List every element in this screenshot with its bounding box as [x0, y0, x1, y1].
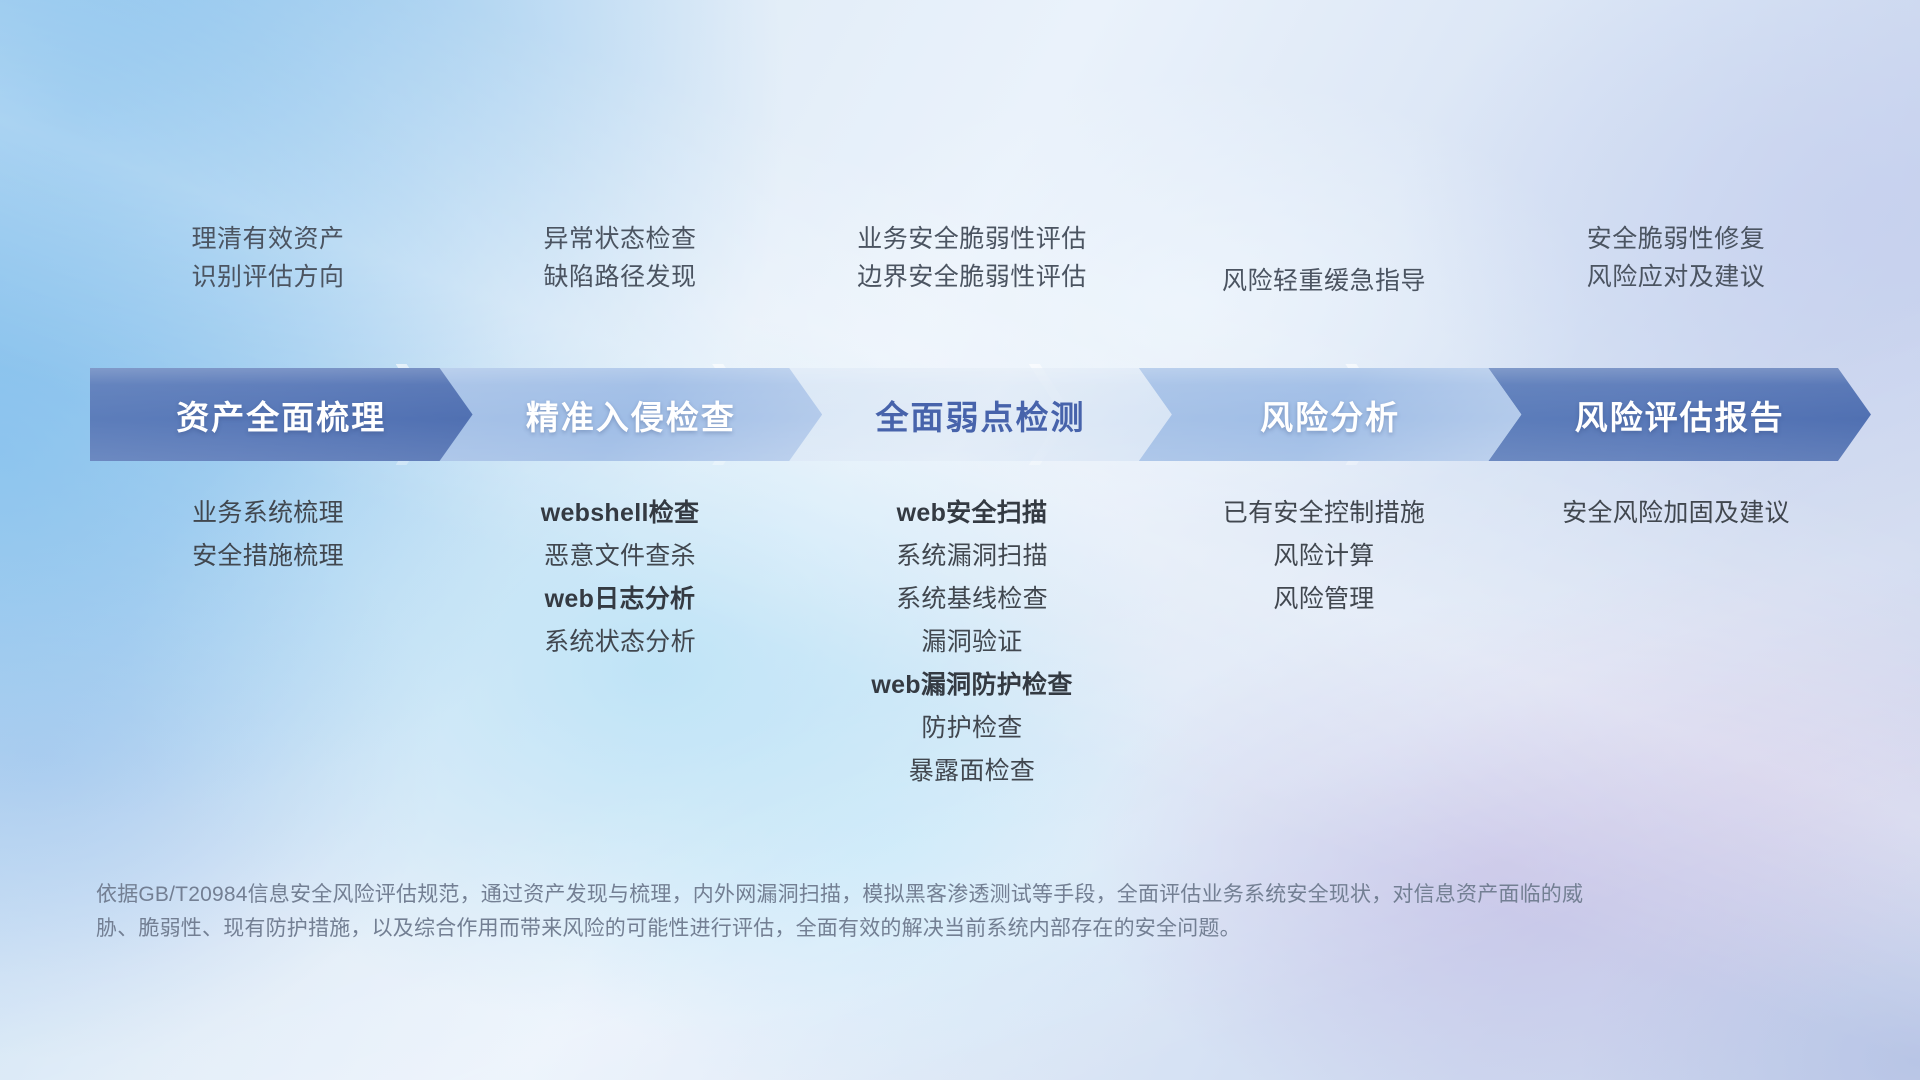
detail-item: 漏洞验证 — [921, 629, 1022, 656]
detail-group-risk-report: 安全风险加固及建议 — [1500, 500, 1852, 527]
slide-canvas: 理清有效资产识别评估方向异常状态检查缺陷路径发现业务安全脆弱性评估边界安全脆弱性… — [0, 0, 1920, 1080]
detail-group-asset-inventory: 业务系统梳理安全措施梳理 — [92, 500, 444, 570]
top-annotation-item: 风险应对及建议 — [1587, 264, 1766, 290]
top-annotation-group-asset-inventory: 理清有效资产识别评估方向 — [92, 226, 444, 316]
detail-item: 安全措施梳理 — [192, 543, 344, 570]
top-annotation-item: 风险轻重缓急指导 — [1222, 268, 1426, 294]
top-annotations-row: 理清有效资产识别评估方向异常状态检查缺陷路径发现业务安全脆弱性评估边界安全脆弱性… — [92, 226, 1852, 316]
detail-item: 系统状态分析 — [544, 629, 696, 656]
process-step-risk-report[interactable]: 风险评估报告 — [1488, 368, 1871, 461]
process-step-label: 风险评估报告 — [1575, 391, 1785, 439]
top-annotation-group-risk-analysis: 风险轻重缓急指导 — [1148, 226, 1500, 316]
detail-item: 风险计算 — [1273, 543, 1374, 570]
process-step-label: 精准入侵检查 — [526, 391, 736, 439]
detail-item: 系统基线检查 — [896, 586, 1048, 613]
top-annotation-group-weakness-detection: 业务安全脆弱性评估边界安全脆弱性评估 — [796, 226, 1148, 316]
process-step-label: 全面弱点检测 — [875, 391, 1085, 439]
process-step-weakness-detection[interactable]: 全面弱点检测 — [789, 368, 1172, 461]
process-step-asset-inventory[interactable]: 资产全面梳理 — [90, 368, 473, 461]
footer-description: 依据GB/T20984信息安全风险评估规范，通过资产发现与梳理，内外网漏洞扫描，… — [96, 878, 1596, 946]
top-annotation-item: 缺陷路径发现 — [543, 264, 696, 290]
process-chevron-band: 资产全面梳理精准入侵检查全面弱点检测风险分析风险评估报告 — [90, 368, 1838, 461]
detail-group-risk-analysis: 已有安全控制措施风险计算风险管理 — [1148, 500, 1500, 613]
process-step-label: 资产全面梳理 — [176, 391, 386, 439]
top-annotation-item: 安全脆弱性修复 — [1587, 226, 1766, 252]
detail-group-weakness-detection: web安全扫描系统漏洞扫描系统基线检查漏洞验证web漏洞防护检查防护检查暴露面检… — [796, 500, 1148, 785]
detail-group-intrusion-check: webshell检查恶意文件查杀web日志分析系统状态分析 — [444, 500, 796, 656]
detail-item: 业务系统梳理 — [192, 500, 344, 527]
detail-item: 系统漏洞扫描 — [896, 543, 1048, 570]
detail-item: web日志分析 — [545, 586, 696, 613]
top-annotation-item: 边界安全脆弱性评估 — [857, 264, 1087, 290]
detail-item: 防护检查 — [921, 715, 1022, 742]
bottom-details-row: 业务系统梳理安全措施梳理webshell检查恶意文件查杀web日志分析系统状态分… — [92, 500, 1852, 830]
detail-item: 已有安全控制措施 — [1223, 500, 1425, 527]
top-annotation-item: 理清有效资产 — [191, 226, 344, 252]
detail-item: web漏洞防护检查 — [871, 672, 1072, 699]
detail-item: webshell检查 — [541, 500, 700, 527]
process-diagram: 理清有效资产识别评估方向异常状态检查缺陷路径发现业务安全脆弱性评估边界安全脆弱性… — [0, 0, 1920, 1080]
detail-item: 暴露面检查 — [909, 758, 1036, 785]
detail-item: web安全扫描 — [897, 500, 1048, 527]
top-annotation-group-intrusion-check: 异常状态检查缺陷路径发现 — [444, 226, 796, 316]
process-step-label: 风险分析 — [1260, 391, 1400, 439]
top-annotation-item: 识别评估方向 — [191, 264, 344, 290]
detail-item: 恶意文件查杀 — [544, 543, 696, 570]
process-step-intrusion-check[interactable]: 精准入侵检查 — [440, 368, 823, 461]
detail-item: 风险管理 — [1273, 586, 1374, 613]
top-annotation-item: 业务安全脆弱性评估 — [857, 226, 1087, 252]
detail-item: 安全风险加固及建议 — [1562, 500, 1790, 527]
process-step-risk-analysis[interactable]: 风险分析 — [1139, 368, 1522, 461]
top-annotation-group-risk-report: 安全脆弱性修复风险应对及建议 — [1500, 226, 1852, 316]
top-annotation-item: 异常状态检查 — [543, 226, 696, 252]
